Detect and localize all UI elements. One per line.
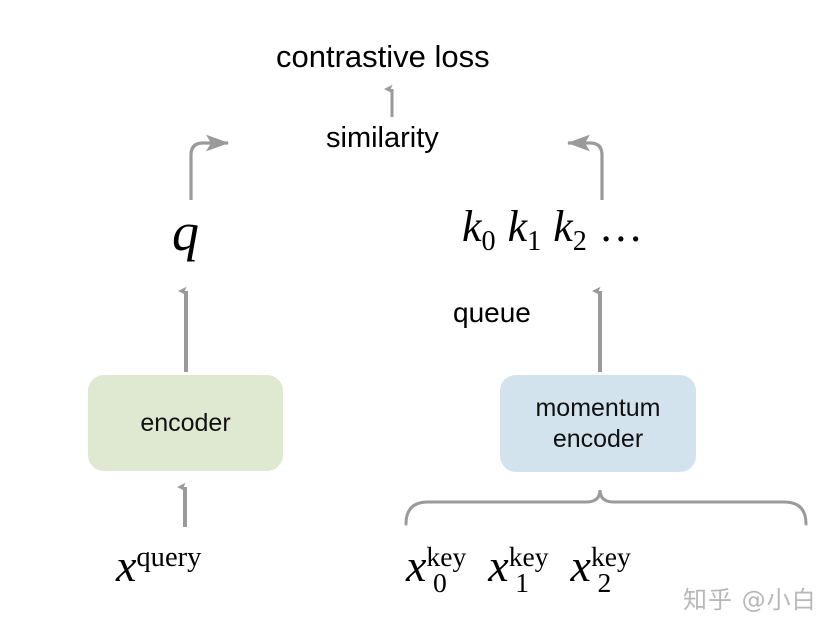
brace-key-inputs <box>406 490 806 524</box>
similarity-label: similarity <box>326 124 439 153</box>
encoder-box[interactable]: encoder <box>88 375 283 471</box>
key-input-0: xkey0 <box>406 543 466 589</box>
key-symbol-2-subscript: 2 <box>573 226 587 257</box>
queue-label: queue <box>453 299 531 327</box>
key-symbol-1-base: k <box>508 202 528 251</box>
key-symbol-0-base: k <box>462 202 482 251</box>
momentum-encoder-box[interactable]: momentum encoder <box>500 375 696 472</box>
key-input-2-subscript: 2 <box>598 569 612 597</box>
query-input-superscript: query <box>136 542 201 573</box>
key-symbol-2-base: k <box>553 202 573 251</box>
key-input-1-subscript: 1 <box>515 569 529 597</box>
arrow-q-to-similarity <box>191 143 228 200</box>
query-input-base: x <box>116 540 136 591</box>
key-input-0-subscript: 0 <box>433 569 447 597</box>
watermark: 知乎 @小白 <box>683 580 817 615</box>
momentum-encoder-label-line2: encoder <box>553 425 643 453</box>
momentum-encoder-label-line1: momentum <box>535 394 660 422</box>
key-input-0-base: x <box>406 540 426 591</box>
key-symbol-0: k0 <box>462 202 496 251</box>
arrow-keys-to-similarity <box>568 143 602 200</box>
key-symbols-ellipsis: … <box>599 202 645 251</box>
key-inputs-row: xkey0xkey1xkey2 <box>406 543 631 589</box>
key-symbol-1: k1 <box>508 202 542 251</box>
key-symbol-0-subscript: 0 <box>482 226 496 257</box>
key-input-1-base: x <box>488 540 508 591</box>
key-symbols-row: k0k1k2… <box>462 205 645 256</box>
diagram-connectors <box>0 0 826 634</box>
key-symbol-1-subscript: 1 <box>527 226 541 257</box>
key-input-2: xkey2 <box>571 543 631 589</box>
key-symbol-2: k2 <box>553 202 587 251</box>
key-input-1: xkey1 <box>488 543 548 589</box>
encoder-box-label: encoder <box>140 408 230 439</box>
query-symbol: q <box>172 205 199 259</box>
contrastive-loss-label: contrastive loss <box>276 41 490 72</box>
momentum-encoder-box-label: momentum encoder <box>535 393 660 454</box>
query-input-label: xquery <box>116 543 201 589</box>
key-input-2-base: x <box>571 540 591 591</box>
